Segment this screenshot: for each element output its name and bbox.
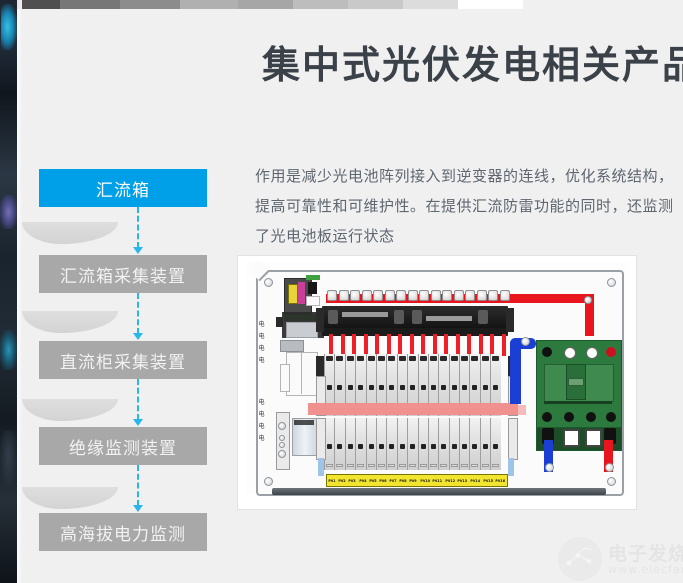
controller-black-port xyxy=(308,282,317,294)
left-decorative-rail xyxy=(0,0,22,583)
watermark-url: www.elecfans.com xyxy=(608,563,683,576)
progress-segment-3 xyxy=(120,0,180,9)
mcb-7 xyxy=(397,418,407,470)
side-mark-2: 电 xyxy=(257,332,266,341)
controller-green-header xyxy=(306,275,320,280)
red-wire-6 xyxy=(387,334,391,356)
fuse-label-1 xyxy=(342,312,388,317)
mcb-lever xyxy=(348,444,353,449)
pv-label-9: PV9 xyxy=(410,479,417,483)
mcb-lever xyxy=(348,385,353,390)
mcb-lever xyxy=(472,444,477,449)
side-mark-4: 电 xyxy=(257,356,266,365)
controller-white-block xyxy=(306,296,320,306)
fuse-head-9 xyxy=(419,290,429,301)
red-wire-12 xyxy=(456,334,460,356)
flow-connector-4 xyxy=(137,465,141,506)
combiner-box-backplate: 电 电 电 电 电 电 电 电 xyxy=(256,270,624,496)
spd-screw-4 xyxy=(278,450,286,458)
pv-label-6: PV6 xyxy=(379,479,386,483)
mcb-cap xyxy=(336,356,343,361)
red-wire-5 xyxy=(375,334,379,356)
mcb-cap xyxy=(409,356,416,361)
pv-label-13: PV13 xyxy=(458,479,468,483)
red-wire-10 xyxy=(433,334,437,356)
mcb-lever xyxy=(421,385,426,390)
decorative-ribbon-1 xyxy=(22,222,118,244)
sidebar-item-2[interactable]: 汇流箱采集装置 xyxy=(39,255,207,293)
decorative-ribbon-4 xyxy=(22,487,118,509)
fuse-head-2 xyxy=(339,290,349,301)
watermark-logo-icon xyxy=(558,537,602,581)
mcb-lever xyxy=(358,385,363,390)
mcb-lever xyxy=(369,444,374,449)
screw-top-left xyxy=(264,278,273,287)
din-side-clip-a xyxy=(276,317,283,327)
red-wire-8 xyxy=(410,334,414,356)
outlet-left xyxy=(318,458,324,476)
mcb-lever xyxy=(493,385,498,390)
mcb-slot xyxy=(378,464,385,467)
mcb-cap xyxy=(420,356,427,361)
fuse-row-end-left xyxy=(316,308,324,332)
red-wire-3 xyxy=(352,334,356,356)
mcb-cap xyxy=(368,356,375,361)
mcb-slot xyxy=(420,464,427,467)
red-wire-1 xyxy=(329,334,333,356)
mcb-lever xyxy=(483,444,488,449)
fuse-head-16 xyxy=(500,290,510,301)
progress-segment-4 xyxy=(180,0,238,9)
progress-segment-8 xyxy=(403,0,458,9)
fuse-head-10 xyxy=(431,290,441,301)
mcb-5 xyxy=(376,418,386,470)
mcb-cap xyxy=(451,356,458,361)
mcb-cap xyxy=(326,356,333,361)
mccb-terminal-4 xyxy=(606,347,616,357)
mcb-13 xyxy=(459,418,469,470)
mcb-lever xyxy=(379,385,384,390)
screw-top-right xyxy=(607,278,616,287)
mcb-1 xyxy=(334,418,344,470)
circuit-node-icon xyxy=(558,537,602,581)
watermark: 电子发烧友 www.elecfans.com xyxy=(558,533,683,583)
red-wire-4 xyxy=(364,334,368,356)
mccb-divider xyxy=(544,401,612,404)
mcb-slot xyxy=(357,464,364,467)
fuse-head-14 xyxy=(477,290,487,301)
fuse-head-3 xyxy=(350,290,360,301)
mccb-lug-mid-1 xyxy=(563,429,580,447)
mcb-14 xyxy=(469,418,479,470)
mcb-lever xyxy=(400,444,405,449)
fuse-head-8 xyxy=(408,290,418,301)
busbar-pink-lower xyxy=(308,403,518,415)
pv-label-12: PV12 xyxy=(445,479,455,483)
mcb-cap xyxy=(378,356,385,361)
pv-label-7: PV7 xyxy=(389,479,396,483)
mccb-lug-mid-2 xyxy=(585,429,602,447)
fuse-head-1 xyxy=(327,290,337,301)
mcb-cap xyxy=(440,356,447,361)
fuse-clip-3 xyxy=(412,310,422,324)
pv-label-5: PV5 xyxy=(369,479,376,483)
mcb-cap xyxy=(430,356,437,361)
flow-connector-2 xyxy=(137,293,141,334)
mcb-3 xyxy=(355,418,365,470)
photo-inner-background: 电 电 电 电 电 电 电 电 xyxy=(246,262,628,494)
mcb-slot xyxy=(336,464,343,467)
mcb-lever xyxy=(441,444,446,449)
pv-label-15: PV15 xyxy=(483,479,493,483)
fuse-head-4 xyxy=(362,290,372,301)
mcb-cap xyxy=(399,356,406,361)
spd-screw-2 xyxy=(279,435,285,441)
mcb-lever xyxy=(462,385,467,390)
mcb-lever xyxy=(327,385,332,390)
screw-bottom-left xyxy=(264,477,273,486)
surge-protector-stack xyxy=(276,412,290,470)
progress-segment-7 xyxy=(348,0,403,9)
mcb-bank-row-2 xyxy=(324,418,508,470)
mcb-12 xyxy=(449,418,459,470)
mcb-lever xyxy=(431,385,436,390)
progress-segment-2 xyxy=(60,0,120,9)
mcb-lever xyxy=(369,385,374,390)
mcb-cap xyxy=(357,356,364,361)
progress-strip xyxy=(0,0,683,9)
flow-connector-1 xyxy=(137,207,141,248)
mcb-slot xyxy=(440,464,447,467)
busbar-red-top-right xyxy=(504,294,594,303)
rail-dark-gradient xyxy=(0,0,17,583)
mcb-lever xyxy=(337,385,342,390)
mcb-lever xyxy=(358,444,363,449)
pv-label-2: PV2 xyxy=(339,479,346,483)
mccb-lower-term-4 xyxy=(606,412,616,422)
red-wire-7 xyxy=(398,334,402,356)
fuse-head-11 xyxy=(442,290,452,301)
mcb-lever xyxy=(337,444,342,449)
decorative-ribbon-3 xyxy=(22,399,118,421)
flow-arrowhead-4 xyxy=(133,505,143,512)
pv-terminal-label-strip: PV1PV2PV3PV4PV5PV6PV7PV8PV9PV10PV11PV12P… xyxy=(326,474,508,487)
mcb-lever xyxy=(389,444,394,449)
pv-label-11: PV11 xyxy=(433,479,443,483)
mcb-lever xyxy=(441,385,446,390)
mcb-slot xyxy=(347,464,354,467)
mcb-cap xyxy=(388,356,395,361)
watermark-brand: 电子发烧友 xyxy=(608,539,683,566)
sidebar-item-3[interactable]: 直流柜采集装置 xyxy=(39,341,207,379)
dc-switch-side xyxy=(280,364,290,392)
red-wire-11 xyxy=(444,334,448,356)
fuse-label-2 xyxy=(426,316,472,321)
fuse-head-12 xyxy=(454,290,464,301)
din-gray-block xyxy=(286,322,318,338)
mccb-lower-term-3 xyxy=(586,412,596,422)
mcb-slot xyxy=(482,464,489,467)
pv-label-1: PV1 xyxy=(328,479,335,483)
fuse-clip-1 xyxy=(328,310,338,324)
sidebar-item-4[interactable]: 绝缘监测装置 xyxy=(39,427,207,465)
mcb2-rail-left xyxy=(316,418,326,460)
fuse-clip-2 xyxy=(394,310,404,324)
mcb-lever xyxy=(462,444,467,449)
mcb-2 xyxy=(345,418,355,470)
red-wire-16 xyxy=(502,334,506,356)
pv-label-14: PV14 xyxy=(471,479,481,483)
red-wire-14 xyxy=(479,334,483,356)
mcb-cap xyxy=(461,356,468,361)
mcb-lever xyxy=(472,385,477,390)
mcb1-end-left xyxy=(316,356,324,376)
progress-segment-5 xyxy=(238,0,293,9)
mcb-16 xyxy=(490,418,500,470)
mcb-cap xyxy=(471,356,478,361)
product-photo: 电 电 电 电 电 电 电 电 xyxy=(238,256,636,509)
busbar-blue-vertical xyxy=(510,342,521,404)
mcb-lever xyxy=(327,444,332,449)
red-wire-9 xyxy=(421,334,425,356)
fuse-head-6 xyxy=(385,290,395,301)
mccb-terminal-1 xyxy=(542,347,552,357)
mcb-9 xyxy=(418,418,428,470)
mcb-8 xyxy=(407,418,417,470)
mcb-slot xyxy=(471,464,478,467)
mcb-slot xyxy=(326,464,333,467)
mccb-terminal-2 xyxy=(564,347,576,359)
mcb-slot xyxy=(430,464,437,467)
busbar-blue-screw xyxy=(521,337,530,346)
mccb-toggle-slot xyxy=(568,378,584,386)
din-rail-left xyxy=(280,340,304,352)
progress-segment-9 xyxy=(458,0,523,9)
mccb-lower-term-1 xyxy=(542,412,552,422)
sidebar-item-5[interactable]: 高海拔电力监测 xyxy=(39,513,207,551)
dc-switch-divider xyxy=(301,352,302,394)
screw-bottom-right xyxy=(607,477,616,486)
mcb-lever xyxy=(431,444,436,449)
red-wire-2 xyxy=(341,334,345,356)
rail-glow-teal-mid xyxy=(0,330,17,370)
flow-arrowhead-3 xyxy=(133,419,143,426)
fuse-head-7 xyxy=(396,290,406,301)
mcb-slot xyxy=(461,464,468,467)
progress-segment-6 xyxy=(293,0,348,9)
mcb-6 xyxy=(386,418,396,470)
spd-screw-3 xyxy=(279,442,285,448)
mcb-lever xyxy=(493,444,498,449)
fuse-head-5 xyxy=(373,290,383,301)
mcb-lever xyxy=(452,385,457,390)
pv-label-10: PV10 xyxy=(420,479,430,483)
mcb-lever xyxy=(410,385,415,390)
sidebar-item-1[interactable]: 汇流箱 xyxy=(39,169,207,207)
progress-segment-10 xyxy=(523,0,683,9)
mcb-lever xyxy=(421,444,426,449)
mcb-lever xyxy=(483,385,488,390)
mcb-slot xyxy=(451,464,458,467)
mcb-10 xyxy=(428,418,438,470)
rail-glow-teal-top xyxy=(1,4,17,50)
busbar-screw-right xyxy=(584,296,592,304)
mccb-lower-term-2 xyxy=(564,412,574,422)
mccb-terminal-3 xyxy=(586,347,598,359)
controller-magenta-connector xyxy=(298,282,305,304)
mcb-cap xyxy=(347,356,354,361)
fuse-head-15 xyxy=(488,290,498,301)
mcb-cap xyxy=(482,356,489,361)
side-mark-3: 电 xyxy=(257,344,266,353)
mcb-lever xyxy=(400,385,405,390)
fuse-row-end-right xyxy=(506,308,514,332)
fuse-clip-4 xyxy=(478,310,488,324)
terminal-block-top xyxy=(294,420,314,425)
slide-canvas: 集中式光伏发电相关产品 作用是减少光电池阵列接入到逆变器的连线，优化系统结构，提… xyxy=(0,0,683,583)
enclosure-bottom-bar xyxy=(272,488,606,495)
fuse-head-13 xyxy=(465,290,475,301)
red-wire-15 xyxy=(490,334,494,356)
rail-glow-purple xyxy=(0,195,17,229)
mcb-4 xyxy=(366,418,376,470)
mcb2-rail-right xyxy=(508,418,518,460)
output-screw-positive xyxy=(605,463,614,472)
mcb-slot xyxy=(409,464,416,467)
mcb-lever xyxy=(410,444,415,449)
mcb-lever xyxy=(379,444,384,449)
mcb-slot xyxy=(388,464,395,467)
flow-arrowhead-1 xyxy=(133,247,143,254)
pv-label-16: PV16 xyxy=(496,479,506,483)
mcb-slot xyxy=(492,464,499,467)
busbar-pink-tail xyxy=(498,405,526,415)
slide-body: 集中式光伏发电相关产品 作用是减少光电池阵列接入到逆变器的连线，优化系统结构，提… xyxy=(22,9,683,583)
output-screw-negative xyxy=(545,463,554,472)
product-description: 作用是减少光电池阵列接入到逆变器的连线，优化系统结构，提高可靠性和可维护性。在提… xyxy=(255,161,683,251)
side-mark-1: 电 xyxy=(257,320,266,329)
controller-yellow-terminals xyxy=(288,284,298,304)
side-mark-5: 电 xyxy=(257,398,266,407)
mcb-lever xyxy=(389,385,394,390)
side-mark-8: 电 xyxy=(257,434,266,443)
mcb-slot xyxy=(368,464,375,467)
side-mark-6: 电 xyxy=(257,410,266,419)
flow-connector-3 xyxy=(137,379,141,420)
dc-switch-white xyxy=(286,352,318,396)
outlet-right xyxy=(508,458,514,476)
mcb-cap xyxy=(492,356,499,361)
red-wire-13 xyxy=(467,334,471,356)
mcb-11 xyxy=(438,418,448,470)
decorative-ribbon-2 xyxy=(22,311,118,333)
mcb-15 xyxy=(480,418,490,470)
mcb-slot xyxy=(399,464,406,467)
pv-label-3: PV3 xyxy=(349,479,356,483)
side-mark-7: 电 xyxy=(257,422,266,431)
page-title: 集中式光伏发电相关产品 xyxy=(262,37,683,93)
rail-glow-gray xyxy=(0,430,17,486)
mcb-lever xyxy=(452,444,457,449)
pv-label-8: PV8 xyxy=(400,479,407,483)
flow-arrowhead-2 xyxy=(133,333,143,340)
spd-screw-1 xyxy=(278,422,286,430)
pv-label-4: PV4 xyxy=(359,479,366,483)
